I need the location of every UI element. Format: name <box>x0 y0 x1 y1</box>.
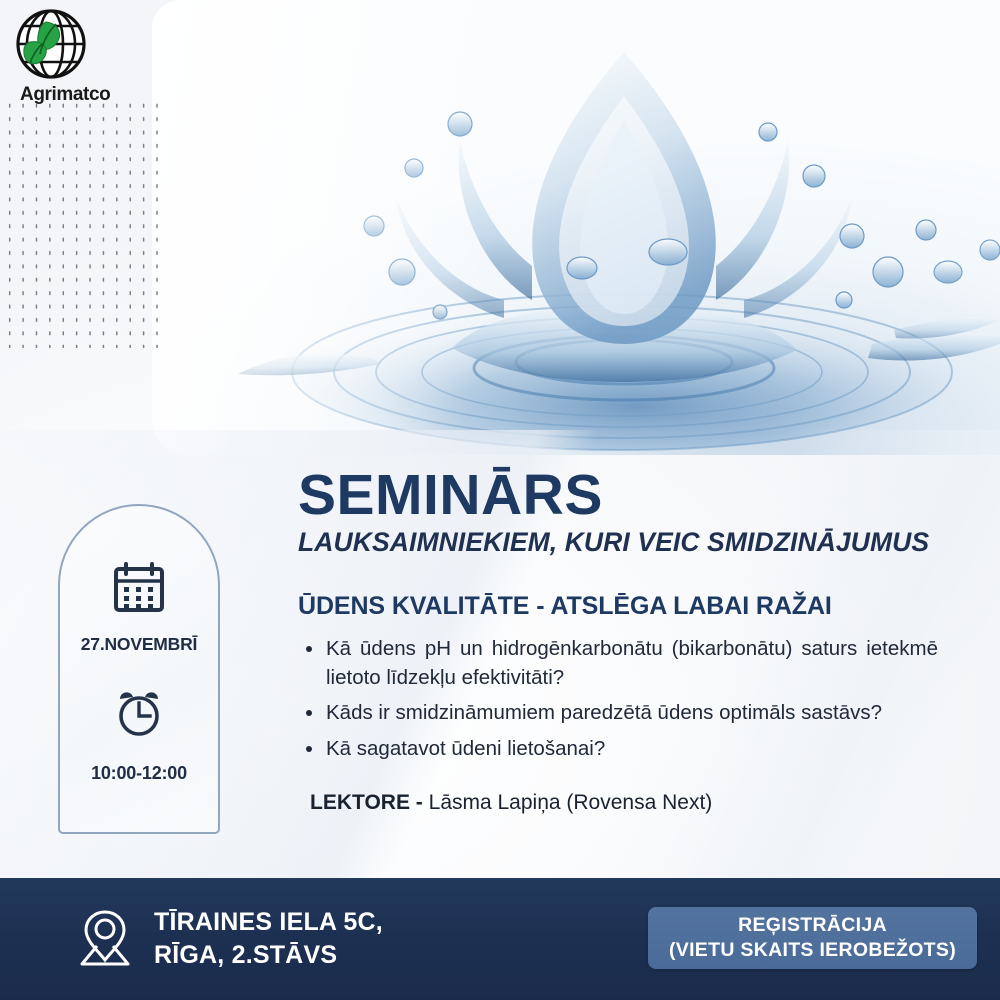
address-block: TĪRAINES IELA 5C, RĪGA, 2.STĀVS <box>78 906 383 973</box>
hero-water-image <box>152 0 1000 455</box>
hero-fade-overlay <box>152 0 1000 455</box>
topic-list: Kā ūdens pH un hidrogēnkarbonātu (bikarb… <box>298 634 978 762</box>
address-text: TĪRAINES IELA 5C, RĪGA, 2.STĀVS <box>154 906 383 973</box>
address-line-2: RĪGA, 2.STĀVS <box>154 939 383 973</box>
list-item: Kā ūdens pH un hidrogēnkarbonātu (bikarb… <box>298 634 938 692</box>
dot-pattern-decoration <box>0 96 158 348</box>
page-subtitle: LAUKSAIMNIEKIEM, KURI VEIC SMIDZINĀJUMUS <box>298 527 978 558</box>
lecturer-name: Lāsma Lapiņa (Rovensa Next) <box>429 791 713 814</box>
registration-button[interactable]: REĢISTRĀCIJA (VIETU SKAITS IEROBEŽOTS) <box>648 907 977 969</box>
event-info-card: 27.NOVEMBRĪ 10:00-12:00 <box>58 504 220 834</box>
event-time: 10:00-12:00 <box>91 763 187 784</box>
calendar-icon <box>112 562 166 617</box>
alarm-clock-icon <box>113 689 165 744</box>
page-title: SEMINĀRS <box>298 466 978 525</box>
brand-name: Agrimatco <box>20 84 110 106</box>
brand-logo: Agrimatco <box>10 6 130 106</box>
event-date: 27.NOVEMBRĪ <box>81 634 197 655</box>
lecturer-label: LEKTORE - <box>310 791 423 814</box>
globe-leaf-icon <box>10 6 92 86</box>
poster-root: Agrimatco 27.NOVEMBRĪ <box>0 0 1000 1000</box>
registration-sublabel: (VIETU SKAITS IEROBEŽOTS) <box>669 938 956 963</box>
main-content: SEMINĀRS LAUKSAIMNIEKIEM, KURI VEIC SMID… <box>298 466 978 815</box>
section-heading: ŪDENS KVALITĀTE - ATSLĒGA LABAI RAŽAI <box>298 592 978 621</box>
list-item: Kā sagatavot ūdeni lietošanai? <box>298 734 938 763</box>
lecturer-line: LEKTORE - Lāsma Lapiņa (Rovensa Next) <box>310 791 978 815</box>
map-pin-icon <box>78 908 132 971</box>
list-item: Kāds ir smidzināmumiem paredzētā ūdens o… <box>298 698 938 727</box>
address-line-1: TĪRAINES IELA 5C, <box>154 906 383 940</box>
registration-label: REĢISTRĀCIJA <box>738 913 887 938</box>
